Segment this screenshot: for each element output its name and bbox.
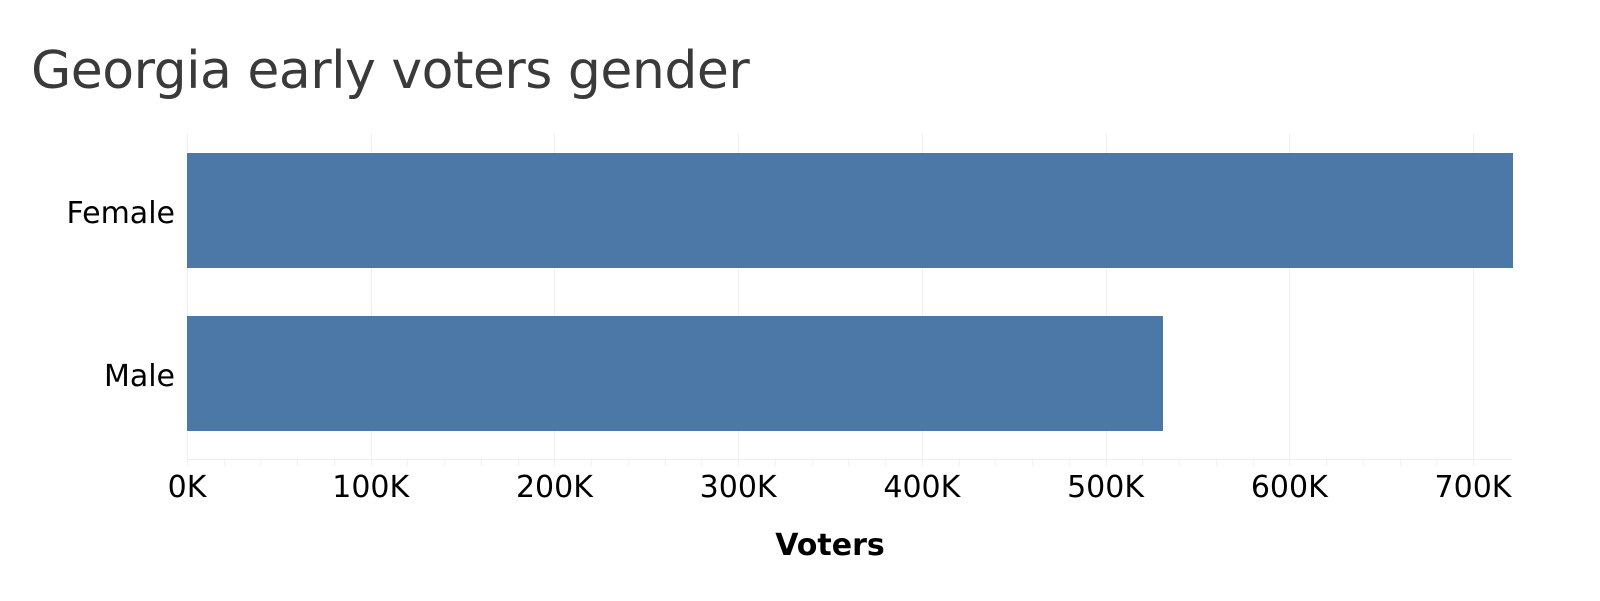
minor-tick	[701, 459, 702, 466]
minor-tick	[187, 459, 188, 466]
plot-area	[187, 133, 1473, 459]
x-tick-label-300K: 300K	[700, 470, 777, 505]
minor-tick	[1253, 459, 1254, 466]
bar-male[interactable]	[187, 316, 1163, 431]
minor-tick	[260, 459, 261, 466]
chart-title: Georgia early voters gender	[31, 42, 749, 102]
minor-tick	[1069, 459, 1070, 466]
minor-tick	[224, 459, 225, 466]
minor-tick	[407, 459, 408, 466]
y-axis-label-male: Male	[0, 359, 175, 394]
minor-tick	[371, 459, 372, 466]
x-tick-label-600K: 600K	[1251, 470, 1328, 505]
minor-tick	[1216, 459, 1217, 466]
minor-tick	[1289, 459, 1290, 466]
minor-tick	[1436, 459, 1437, 466]
minor-tick	[1473, 459, 1474, 466]
bar-chart: Georgia early voters gender Female Male …	[0, 0, 1600, 601]
minor-tick	[922, 459, 923, 466]
minor-tick	[1106, 459, 1107, 466]
minor-tick	[518, 459, 519, 466]
minor-tick	[995, 459, 996, 466]
x-tick-label-100K: 100K	[332, 470, 409, 505]
minor-tick	[775, 459, 776, 466]
x-tick-label-400K: 400K	[883, 470, 960, 505]
minor-tick	[444, 459, 445, 466]
minor-tick	[297, 459, 298, 466]
minor-tick	[885, 459, 886, 466]
x-axis-line	[187, 459, 1512, 460]
minor-tick	[1179, 459, 1180, 466]
x-tick-label-700K: 700K	[1435, 470, 1512, 505]
minor-tick	[1400, 459, 1401, 466]
minor-tick	[665, 459, 666, 466]
minor-tick	[1363, 459, 1364, 466]
minor-tick	[334, 459, 335, 466]
minor-tick	[554, 459, 555, 466]
x-tick-label-500K: 500K	[1067, 470, 1144, 505]
minor-tick	[1326, 459, 1327, 466]
minor-tick	[1032, 459, 1033, 466]
minor-tick	[591, 459, 592, 466]
minor-tick	[848, 459, 849, 466]
minor-tick	[959, 459, 960, 466]
minor-tick	[812, 459, 813, 466]
x-tick-label-0K: 0K	[168, 470, 207, 505]
x-tick-label-200K: 200K	[516, 470, 593, 505]
minor-tick	[738, 459, 739, 466]
x-axis-title: Voters	[187, 528, 1473, 563]
y-axis-label-female: Female	[0, 196, 175, 231]
minor-tick	[1142, 459, 1143, 466]
minor-tick	[628, 459, 629, 466]
minor-tick	[481, 459, 482, 466]
bar-female[interactable]	[187, 153, 1513, 268]
